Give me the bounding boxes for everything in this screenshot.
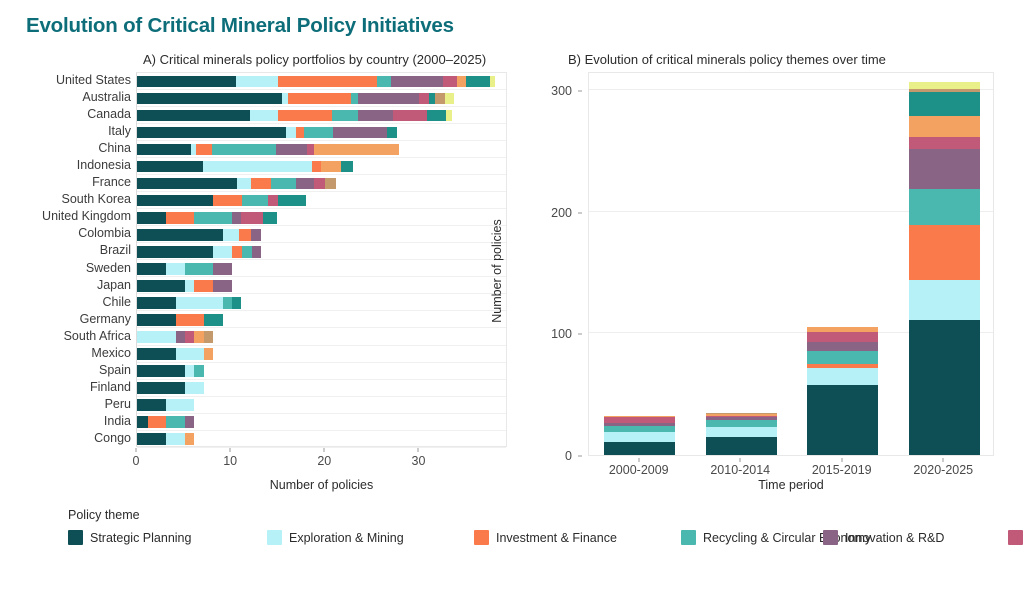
legend-item-label: Investment & Finance: [496, 531, 617, 545]
stacked-bar[interactable]: [137, 280, 232, 292]
bar-segment[interactable]: [212, 144, 276, 156]
stacked-bar[interactable]: [807, 327, 878, 455]
bar-segment[interactable]: [213, 263, 232, 275]
bar-segment[interactable]: [185, 365, 194, 377]
legend-item[interactable]: Investment & Finance: [474, 527, 681, 548]
bar-segment[interactable]: [137, 399, 166, 411]
legend-color-swatch: [474, 530, 489, 545]
bar-segment[interactable]: [807, 351, 878, 364]
bar-segment[interactable]: [232, 297, 241, 309]
legend-color-swatch: [681, 530, 696, 545]
bar-segment[interactable]: [296, 178, 314, 190]
panel-a-category-label: Mexico: [91, 345, 131, 362]
bar-segment[interactable]: [251, 229, 261, 241]
bar-segment[interactable]: [137, 416, 148, 428]
legend-item-label: Exploration & Mining: [289, 531, 404, 545]
panel-a-category-label: Italy: [108, 123, 131, 140]
panel-a-category-label: India: [104, 413, 131, 430]
bar-segment[interactable]: [194, 365, 203, 377]
bar-segment[interactable]: [137, 365, 185, 377]
panel-a-bar-row: [137, 277, 506, 294]
legend-color-swatch: [1008, 530, 1023, 545]
stacked-bar[interactable]: [137, 212, 277, 224]
panel-a-bar-row: [137, 158, 506, 175]
panel-a-bar-row: [137, 294, 506, 311]
stacked-bar[interactable]: [137, 195, 306, 207]
bar-segment[interactable]: [194, 280, 213, 292]
bar-segment[interactable]: [377, 76, 391, 88]
panel-a-category-label: Canada: [87, 106, 131, 123]
page-title: Evolution of Critical Mineral Policy Ini…: [26, 14, 454, 38]
panel-b-y-axis: 0100200300: [520, 72, 582, 456]
legend-color-swatch: [68, 530, 83, 545]
panel-a-category-label: Sweden: [86, 260, 131, 277]
legend-item[interactable]: Exploration & Mining: [267, 527, 474, 548]
axis-tick-mark: [578, 456, 582, 457]
bar-segment[interactable]: [194, 331, 203, 343]
panel-a-bar-row: [137, 414, 506, 431]
panel-a-category-label: United States: [56, 72, 131, 89]
bar-segment[interactable]: [307, 144, 314, 156]
panel-a-bar-row: [137, 431, 506, 448]
panel-a-category-label: Brazil: [100, 242, 131, 259]
bar-segment[interactable]: [137, 348, 176, 360]
bar-segment[interactable]: [278, 110, 332, 122]
stacked-bar[interactable]: [137, 178, 336, 190]
panel-a-bar-row: [137, 226, 506, 243]
bar-segment[interactable]: [909, 82, 980, 89]
bar-segment[interactable]: [166, 416, 185, 428]
bar-segment[interactable]: [909, 92, 980, 116]
legend-item-label: Innovation & R&D: [845, 531, 944, 545]
panel-a-category-label: Spain: [99, 362, 131, 379]
bar-segment[interactable]: [137, 195, 213, 207]
legend-item[interactable]: Recycling & Circular Economy: [681, 527, 823, 548]
panel-a-bar-row: [137, 328, 506, 345]
bar-segment[interactable]: [251, 178, 271, 190]
panel-a-plot-area: [136, 72, 507, 447]
panel-a-category-label: South Korea: [62, 191, 132, 208]
stacked-bar[interactable]: [137, 263, 232, 275]
bar-segment[interactable]: [137, 93, 282, 105]
legend-color-swatch: [823, 530, 838, 545]
bar-segment[interactable]: [387, 127, 396, 139]
bar-segment[interactable]: [358, 93, 419, 105]
stacked-bar[interactable]: [137, 127, 397, 139]
bar-segment[interactable]: [241, 212, 263, 224]
bar-segment[interactable]: [204, 331, 213, 343]
stacked-bar[interactable]: [137, 297, 241, 309]
panel-b-x-tick-label: 2000-2009: [609, 463, 669, 477]
legend-title: Policy theme: [68, 508, 1008, 522]
bar-segment[interactable]: [223, 297, 232, 309]
bar-segment[interactable]: [909, 116, 980, 137]
bar-segment[interactable]: [252, 246, 261, 258]
stacked-bar[interactable]: [137, 348, 213, 360]
bar-segment[interactable]: [137, 246, 213, 258]
bar-segment[interactable]: [286, 127, 296, 139]
stacked-bar[interactable]: [137, 229, 261, 241]
bar-segment[interactable]: [706, 427, 777, 437]
bar-segment[interactable]: [393, 110, 427, 122]
bar-segment[interactable]: [232, 246, 242, 258]
panel-a-category-label: Indonesia: [77, 157, 131, 174]
bar-segment[interactable]: [909, 137, 980, 149]
bar-segment[interactable]: [137, 280, 185, 292]
bar-segment[interactable]: [909, 189, 980, 225]
bar-segment[interactable]: [445, 93, 454, 105]
bar-segment[interactable]: [185, 416, 194, 428]
panel-a-bar-row: [137, 175, 506, 192]
stacked-bar[interactable]: [604, 416, 675, 455]
panel-a-category-label: Germany: [80, 311, 131, 328]
bar-segment[interactable]: [137, 76, 236, 88]
bar-segment[interactable]: [312, 161, 320, 173]
bar-segment[interactable]: [325, 178, 335, 190]
bar-segment[interactable]: [490, 76, 495, 88]
bar-segment[interactable]: [268, 195, 278, 207]
bar-segment[interactable]: [807, 332, 878, 342]
bar-segment[interactable]: [204, 314, 223, 326]
bar-segment[interactable]: [185, 433, 194, 445]
bar-segment[interactable]: [909, 225, 980, 280]
axis-tick-mark: [578, 212, 582, 213]
panel-b-y-tick-label: 200: [551, 206, 572, 220]
panel-a-bar-row: [137, 73, 506, 90]
axis-tick-mark: [841, 458, 842, 462]
bar-segment[interactable]: [807, 385, 878, 455]
bar-segment[interactable]: [237, 178, 251, 190]
bar-segment[interactable]: [332, 110, 358, 122]
legend-item[interactable]: Innovation & R&D: [823, 527, 1008, 548]
axis-tick-mark: [638, 458, 639, 462]
bar-segment[interactable]: [213, 280, 232, 292]
bar-segment[interactable]: [176, 331, 185, 343]
panel-a-category-label: United Kingdom: [42, 208, 131, 225]
bar-segment[interactable]: [314, 144, 399, 156]
panel-a-category-label: Colombia: [78, 225, 131, 242]
bar-segment[interactable]: [204, 348, 213, 360]
panel-a-bar-row: [137, 107, 506, 124]
bar-segment[interactable]: [435, 93, 444, 105]
legend: Policy theme Strategic PlanningExplorati…: [68, 508, 1008, 548]
bar-segment[interactable]: [137, 263, 166, 275]
bar-segment[interactable]: [419, 93, 428, 105]
bar-segment[interactable]: [176, 348, 204, 360]
bar-segment[interactable]: [137, 331, 176, 343]
panel-b-x-tick-label: 2015-2019: [812, 463, 872, 477]
stacked-bar[interactable]: [137, 365, 204, 377]
bar-segment[interactable]: [213, 246, 232, 258]
bar-segment[interactable]: [166, 263, 185, 275]
bar-segment[interactable]: [213, 195, 241, 207]
panel-a-category-label: Australia: [82, 89, 131, 106]
bar-segment[interactable]: [427, 110, 446, 122]
bar-segment[interactable]: [351, 93, 359, 105]
axis-tick-mark: [324, 448, 325, 452]
bar-segment[interactable]: [276, 144, 307, 156]
panel-a-bar-row: [137, 141, 506, 158]
bar-segment[interactable]: [288, 93, 351, 105]
bar-segment[interactable]: [137, 297, 176, 309]
panel-a-x-tick-label: 30: [412, 454, 426, 468]
bar-segment[interactable]: [185, 331, 194, 343]
bar-segment[interactable]: [176, 314, 204, 326]
panel-a-bar-row: [137, 397, 506, 414]
bar-segment[interactable]: [321, 161, 342, 173]
panel-b-y-tick-label: 100: [551, 327, 572, 341]
panel-b-x-tick-label: 2010-2014: [710, 463, 770, 477]
bar-segment[interactable]: [278, 76, 377, 88]
bar-segment[interactable]: [807, 368, 878, 385]
panel-a-category-label: Congo: [94, 430, 131, 447]
stacked-bar[interactable]: [137, 433, 194, 445]
bar-segment[interactable]: [429, 93, 436, 105]
bar-segment[interactable]: [314, 178, 325, 190]
bar-segment[interactable]: [239, 229, 251, 241]
bar-segment[interactable]: [446, 110, 453, 122]
panel-b-x-axis: 2000-20092010-20142015-20192020-2025: [588, 458, 994, 476]
stacked-bar[interactable]: [137, 382, 204, 394]
panel-a-category-label: Finland: [90, 379, 131, 396]
panel-a-bar-row: [137, 243, 506, 260]
bar-segment[interactable]: [263, 212, 277, 224]
panel-a-bar-row: [137, 192, 506, 209]
axis-tick-mark: [578, 334, 582, 335]
legend-color-swatch: [267, 530, 282, 545]
bar-segment[interactable]: [909, 280, 980, 320]
bar-segment[interactable]: [137, 127, 286, 139]
stacked-bar[interactable]: [137, 76, 495, 88]
bar-segment[interactable]: [341, 161, 352, 173]
panel-a-category-labels: United StatesAustraliaCanadaItalyChinaIn…: [0, 72, 131, 447]
panel-b-x-axis-title: Time period: [588, 478, 994, 492]
bar-segment[interactable]: [137, 229, 223, 241]
legend-item[interactable]: Strategic Planning: [68, 527, 267, 548]
stacked-bar[interactable]: [137, 331, 213, 343]
panel-b-x-tick-label: 2020-2025: [913, 463, 973, 477]
legend-item[interactable]: Environmental & Sustainability: [1008, 527, 1024, 548]
panel-a-bar-row: [137, 124, 506, 141]
bar-segment[interactable]: [137, 433, 166, 445]
bar-segment[interactable]: [148, 416, 166, 428]
panel-b-y-tick-label: 300: [551, 84, 572, 98]
stacked-bar[interactable]: [137, 93, 454, 105]
bar-segment[interactable]: [391, 76, 443, 88]
panel-a-x-tick-label: 0: [133, 454, 140, 468]
panel-a-x-axis: 0102030: [136, 448, 507, 468]
stacked-bar[interactable]: [137, 246, 261, 258]
bar-segment[interactable]: [242, 195, 268, 207]
bar-segment[interactable]: [466, 76, 490, 88]
stacked-bar[interactable]: [137, 314, 223, 326]
bar-segment[interactable]: [137, 144, 191, 156]
bar-segment[interactable]: [203, 161, 312, 173]
panel-a-category-label: China: [98, 140, 131, 157]
panel-b-y-axis-title: Number of policies: [490, 219, 504, 323]
panel-a-bar-row: [137, 209, 506, 226]
panel-a-bar-row: [137, 346, 506, 363]
bar-segment[interactable]: [137, 161, 203, 173]
panel-a-bar-row: [137, 363, 506, 380]
bar-segment[interactable]: [176, 297, 223, 309]
bar-segment[interactable]: [271, 178, 296, 190]
bar-segment[interactable]: [807, 342, 878, 351]
panel-a-x-tick-label: 10: [223, 454, 237, 468]
bar-segment[interactable]: [185, 263, 213, 275]
panel-a-x-axis-title: Number of policies: [136, 478, 507, 492]
bar-segment[interactable]: [137, 110, 250, 122]
axis-tick-mark: [136, 448, 137, 452]
panel-a-bar-row: [137, 90, 506, 107]
bar-segment[interactable]: [242, 246, 251, 258]
stacked-bar[interactable]: [137, 416, 194, 428]
bar-segment[interactable]: [296, 127, 304, 139]
bar-segment[interactable]: [166, 433, 185, 445]
bar-segment[interactable]: [137, 178, 237, 190]
bar-segment[interactable]: [232, 212, 241, 224]
stacked-bar[interactable]: [137, 144, 399, 156]
axis-tick-mark: [418, 448, 419, 452]
panel-b-title: B) Evolution of critical minerals policy…: [568, 52, 886, 67]
panel-a-category-label: France: [92, 174, 131, 191]
stacked-bar[interactable]: [137, 161, 353, 173]
bar-segment[interactable]: [604, 442, 675, 455]
axis-tick-mark: [578, 91, 582, 92]
bar-segment[interactable]: [358, 110, 393, 122]
bar-segment[interactable]: [706, 420, 777, 427]
bar-segment[interactable]: [909, 149, 980, 189]
bar-segment[interactable]: [250, 110, 278, 122]
bar-segment[interactable]: [137, 382, 185, 394]
bar-segment[interactable]: [333, 127, 388, 139]
panel-a-title: A) Critical minerals policy portfolios b…: [143, 52, 486, 67]
panel-b-y-tick-label: 0: [565, 449, 572, 463]
bar-segment[interactable]: [236, 76, 278, 88]
panel-a-bar-row: [137, 311, 506, 328]
bar-segment[interactable]: [304, 127, 333, 139]
bar-segment[interactable]: [909, 320, 980, 455]
bar-segment[interactable]: [166, 212, 194, 224]
panel-a-x-tick-label: 20: [317, 454, 331, 468]
stacked-bar[interactable]: [137, 399, 194, 411]
stacked-bar[interactable]: [706, 413, 777, 455]
bar-segment[interactable]: [166, 399, 194, 411]
panel-a-category-label: Peru: [105, 396, 131, 413]
bar-segment[interactable]: [137, 314, 176, 326]
bar-segment[interactable]: [137, 212, 166, 224]
legend-item-label: Strategic Planning: [90, 531, 191, 545]
axis-tick-mark: [230, 448, 231, 452]
panel-a-category-label: Japan: [97, 277, 131, 294]
panel-a-category-label: Chile: [103, 294, 132, 311]
axis-tick-mark: [943, 458, 944, 462]
legend-items: Strategic PlanningExploration & MiningIn…: [68, 527, 1008, 548]
bar-segment[interactable]: [223, 229, 239, 241]
axis-tick-mark: [740, 458, 741, 462]
panel-a-bar-row: [137, 380, 506, 397]
panel-a-category-label: South Africa: [64, 328, 131, 345]
stacked-bar[interactable]: [137, 110, 452, 122]
panel-a-bar-row: [137, 260, 506, 277]
stacked-bar[interactable]: [909, 82, 980, 455]
panel-b-plot-area: [588, 72, 994, 456]
bar-segment[interactable]: [278, 195, 306, 207]
bar-segment[interactable]: [185, 382, 204, 394]
bar-segment[interactable]: [185, 280, 194, 292]
bar-segment[interactable]: [604, 432, 675, 442]
bar-segment[interactable]: [194, 212, 232, 224]
bar-segment[interactable]: [457, 76, 466, 88]
bar-segment[interactable]: [706, 437, 777, 455]
bar-segment[interactable]: [196, 144, 212, 156]
bar-segment[interactable]: [443, 76, 457, 88]
